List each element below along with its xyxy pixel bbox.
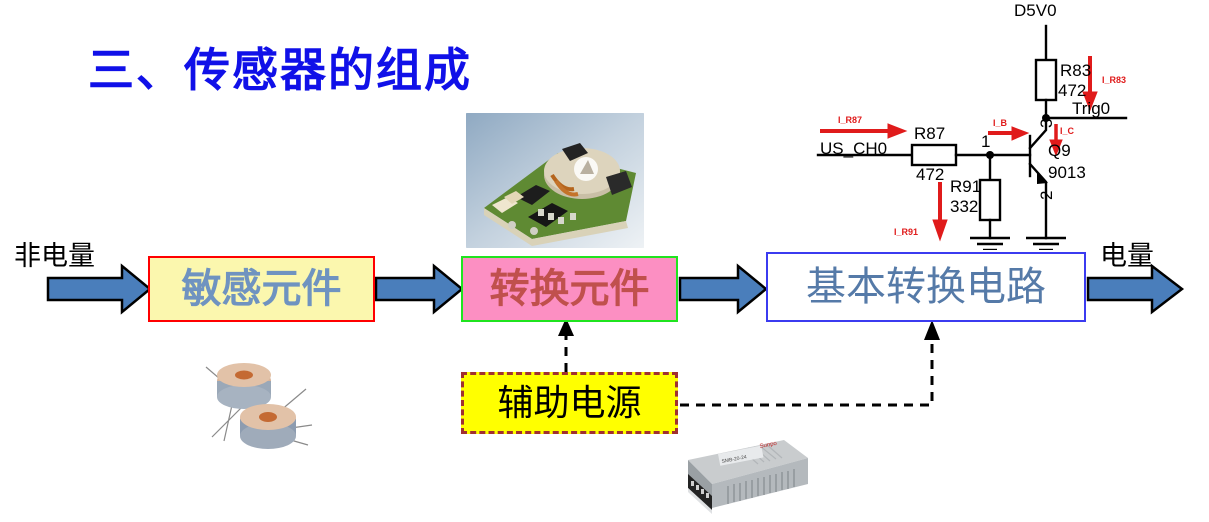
block-label-circuit: 基本转换电路 — [806, 267, 1046, 307]
aux-to-circuit-link — [680, 320, 940, 405]
block-label-sensitive: 敏感元件 — [182, 269, 342, 309]
output-quantity-label: 电量 — [1100, 234, 1154, 273]
block-transducer-element[interactable]: 转换元件 — [461, 256, 678, 322]
block-label-transducer: 转换元件 — [490, 269, 650, 309]
block-auxiliary-power[interactable]: 辅助电源 — [461, 372, 678, 434]
block-label-aux: 辅助电源 — [497, 385, 641, 421]
flow-arrow-sensitive-to-transducer — [376, 266, 462, 312]
flow-arrow-transducer-to-circuit — [680, 266, 766, 312]
input-quantity-label: 非电量 — [14, 234, 95, 273]
block-basic-conversion-circuit[interactable]: 基本转换电路 — [766, 252, 1086, 322]
block-sensitive-element[interactable]: 敏感元件 — [148, 256, 375, 322]
aux-to-transducer-link — [558, 318, 574, 372]
slide-canvas: 三、传感器的组成 — [0, 0, 1209, 522]
